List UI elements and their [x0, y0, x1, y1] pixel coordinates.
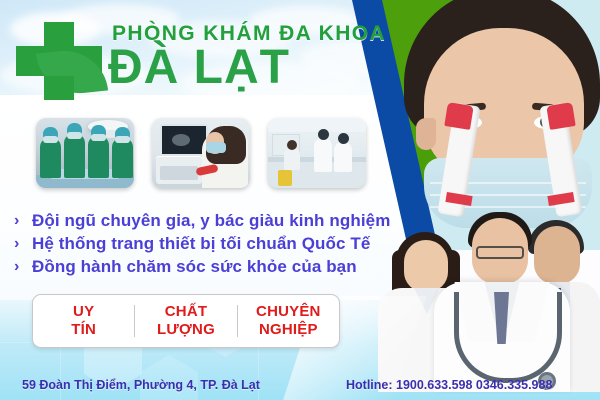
badge-line-1: UY: [33, 303, 134, 321]
ultrasound-exam-photo: [152, 118, 250, 188]
clinic-name: ĐÀ LẠT: [108, 44, 290, 92]
eyeglasses-icon: [476, 246, 524, 259]
surgeon-figure: [40, 138, 61, 178]
feature-text: Hệ thống trang thiết bị tối chuẩn Quốc T…: [32, 234, 370, 254]
ceiling-panel: [268, 118, 366, 132]
test-tube-cap-left: [444, 102, 473, 130]
feature-text: Đội ngũ chuyên gia, y bác giàu kinh nghi…: [32, 211, 390, 231]
clinic-hotline[interactable]: Hotline: 1900.633.598 0346.335.988: [346, 378, 552, 392]
value-badge-group: UY TÍN CHẤT LƯỢNG CHUYÊN NGHIỆP: [32, 294, 340, 348]
photo-gallery: [36, 118, 366, 188]
badge-uy-tin: UY TÍN: [33, 303, 134, 339]
clinic-logo: [16, 22, 104, 100]
patient-mask: [206, 142, 226, 153]
chevron-right-icon: ›: [14, 212, 32, 230]
surgeon-figure: [112, 138, 133, 178]
cross-stem: [44, 76, 74, 94]
feature-list: › Đội ngũ chuyên gia, y bác giàu kinh ng…: [14, 209, 390, 278]
surgeon-figure: [64, 134, 85, 178]
female-doctor-face: [404, 240, 448, 292]
badge-line-2: NGHIỆP: [238, 321, 339, 339]
badge-line-1: CHUYÊN: [238, 303, 339, 321]
yellow-bin: [278, 170, 292, 186]
feature-item: › Đội ngũ chuyên gia, y bác giàu kinh ng…: [14, 209, 390, 232]
surgery-team-photo: [36, 118, 134, 188]
badge-line-2: LƯỢNG: [135, 321, 236, 339]
ultrasound-monitor: [160, 124, 208, 156]
feature-text: Đồng hành chăm sóc sức khỏe của bạn: [32, 257, 357, 277]
senior-doctor-face: [534, 226, 580, 284]
chevron-right-icon: ›: [14, 235, 32, 253]
machine-keyboard: [160, 166, 198, 180]
patient-figure: [284, 148, 300, 170]
scan-image: [172, 134, 190, 146]
ear-shape: [416, 118, 436, 150]
chevron-right-icon: ›: [14, 258, 32, 276]
stethoscope-icon: [454, 292, 562, 383]
test-tube-cap-right: [546, 102, 575, 130]
clinic-banner: PHÒNG KHÁM ĐA KHOA ĐÀ LẠT: [0, 0, 600, 400]
feature-item: › Đồng hành chăm sóc sức khỏe của bạn: [14, 255, 390, 278]
badge-chat-luong: CHẤT LƯỢNG: [135, 303, 236, 339]
surgeon-figure: [88, 136, 109, 178]
staff-figure: [334, 142, 352, 172]
staff-figure: [314, 138, 332, 172]
badge-line-2: TÍN: [33, 321, 134, 339]
feature-item: › Hệ thống trang thiết bị tối chuẩn Quốc…: [14, 232, 390, 255]
clinic-address: 59 Đoàn Thị Điểm, Phường 4, TP. Đà Lạt: [22, 378, 260, 392]
badge-line-1: CHẤT: [135, 303, 236, 321]
badge-chuyen-nghiep: CHUYÊN NGHIỆP: [238, 303, 339, 339]
treatment-room-photo: [268, 118, 366, 188]
